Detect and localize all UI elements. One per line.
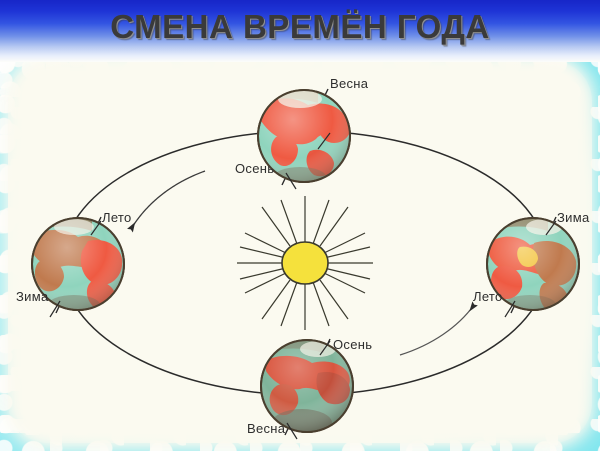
slide-canvas: СМЕНА ВРЕМЁН ГОДА xyxy=(0,0,600,451)
label-left-south-zima: Зима xyxy=(16,289,48,304)
sun-group xyxy=(237,196,373,330)
label-right-south-leto: Лето xyxy=(473,289,503,304)
orbit-arrow-upper-left xyxy=(131,171,205,229)
orbit-arrow-lower-right xyxy=(400,305,474,355)
sun-disc xyxy=(282,242,328,284)
label-left-north-leto: Лето xyxy=(102,210,132,225)
diagram-svg xyxy=(0,55,600,451)
page-title: СМЕНА ВРЕМЁН ГОДА xyxy=(0,8,600,46)
label-top-south-osen: Осень xyxy=(235,161,274,176)
label-top-north-vesna: Весна xyxy=(330,76,368,91)
seasons-diagram: Весна Осень Лето Зима Зима Лето Осень Ве… xyxy=(0,55,600,451)
label-bottom-south-vesna: Весна xyxy=(247,421,285,436)
label-right-north-zima: Зима xyxy=(557,210,589,225)
label-bottom-north-osen: Осень xyxy=(333,337,372,352)
